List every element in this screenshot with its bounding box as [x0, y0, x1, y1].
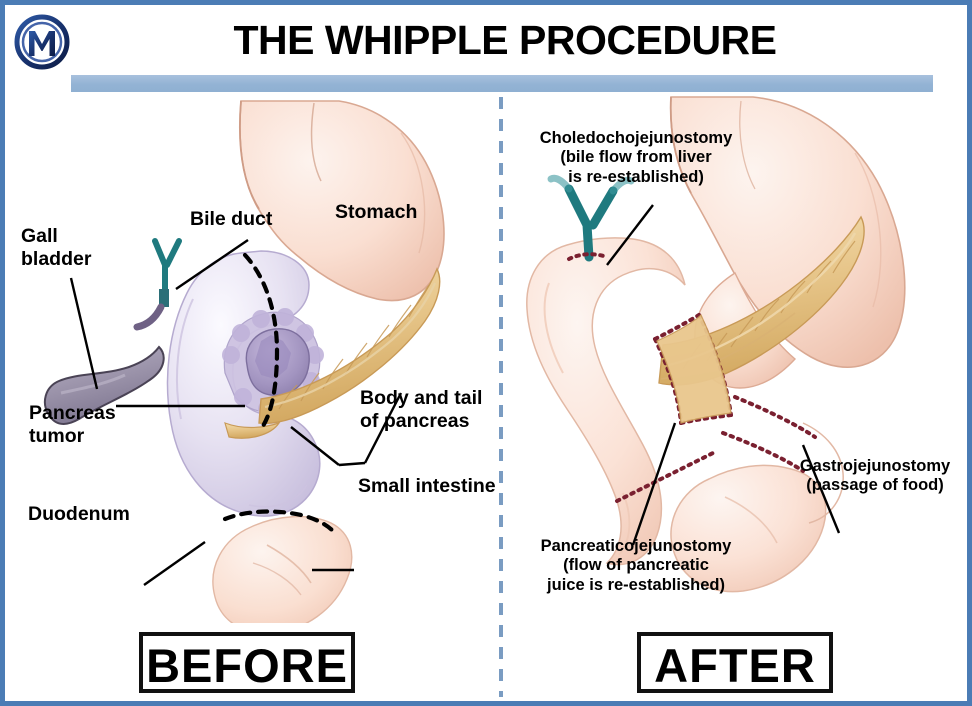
suture-gastrojejunostomy [735, 397, 815, 437]
bile-duct [137, 241, 179, 327]
label-gastrojejunostomy: Gastrojejunostomy (passage of food) [785, 457, 965, 496]
label-small-intestine: Small intestine [358, 475, 496, 498]
label-pancreaticojejunostomy: Pancreaticojejunostomy (flow of pancreat… [525, 537, 747, 595]
jejunal-limb [527, 238, 685, 565]
label-choledochojejunostomy: Choledochojejunostomy (bile flow from li… [521, 129, 751, 187]
page-title: THE WHIPPLE PROCEDURE [155, 17, 855, 64]
label-stomach: Stomach [335, 201, 417, 224]
label-bile-duct: Bile duct [190, 208, 272, 231]
whipple-procedure-figure: THE WHIPPLE PROCEDURE [0, 0, 972, 706]
label-body-and-tail-of-pancreas: Body and tail of pancreas [360, 387, 482, 433]
caption-before: BEFORE [139, 632, 355, 693]
before-illustration [9, 93, 497, 623]
logo-m-monogram-icon [11, 11, 73, 73]
label-duodenum: Duodenum [28, 503, 130, 526]
caption-after: AFTER [637, 632, 833, 693]
clinic-logo [11, 11, 73, 73]
label-pancreas-tumor: Pancreas tumor [29, 402, 116, 448]
label-gall-bladder: Gall bladder [21, 225, 91, 271]
title-underline-bar [71, 75, 933, 92]
